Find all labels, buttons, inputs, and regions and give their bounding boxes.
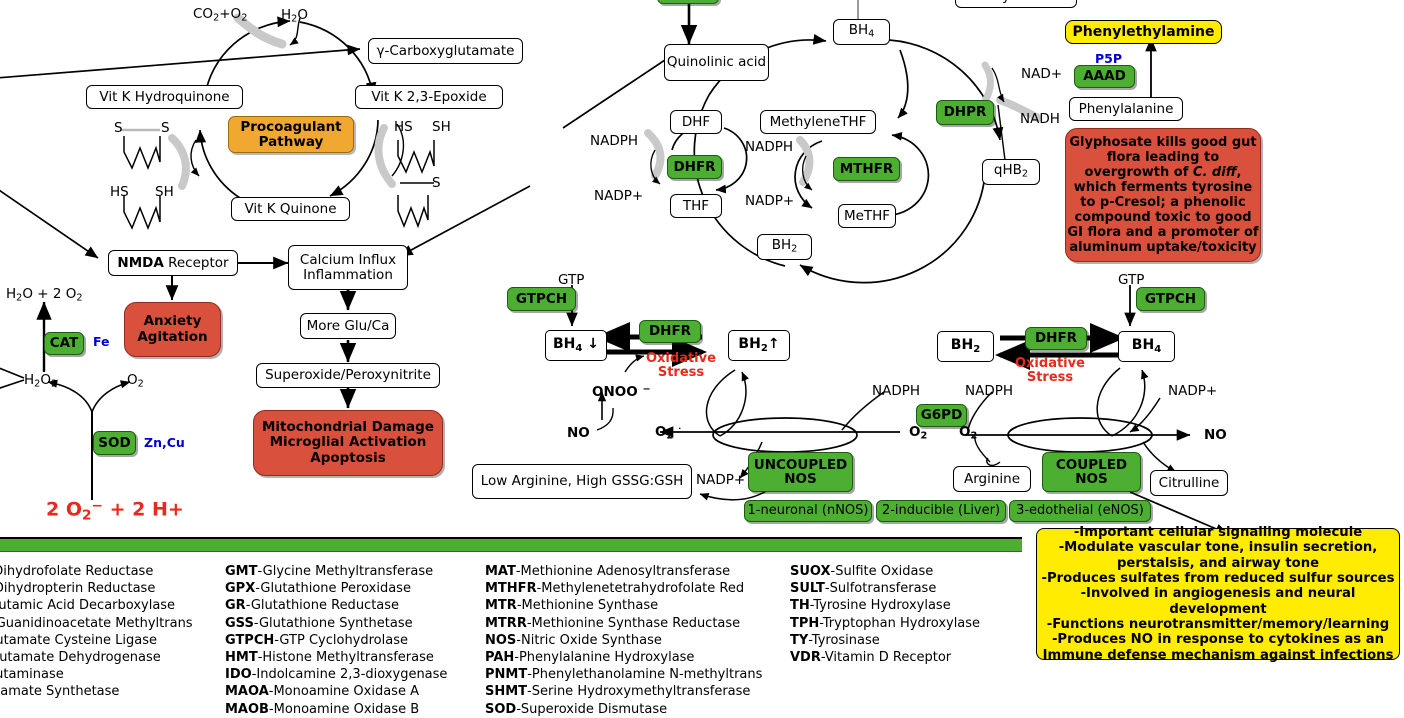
bh2-folate-node[interactable]: BH2 bbox=[757, 234, 812, 260]
nadph-coupled-label: NADPH bbox=[965, 383, 1013, 399]
quinolinic-acid-label: Quinolinic acid bbox=[667, 55, 766, 70]
qhb2-label: qHB2 bbox=[994, 163, 1028, 180]
legend-column-3: MAT-Methionine AdenosyltransferaseMTHFR-… bbox=[485, 563, 762, 718]
vitk-epoxide-node[interactable]: Vit K 2,3-Epoxide bbox=[355, 85, 503, 109]
more-glu-ca-label: More Glu/Ca bbox=[307, 319, 390, 334]
nnos-label: 1-neuronal (nNOS) bbox=[748, 504, 869, 518]
superoxide-peroxynitrite-node[interactable]: Superoxide/Peroxynitrite bbox=[256, 363, 440, 388]
bh4-uncoupled-label: BH4 ↓ bbox=[553, 337, 599, 355]
procoagulant-pathway-box[interactable]: ProcoagulantPathway bbox=[228, 116, 354, 153]
bh2-uncoupled-node[interactable]: BH2↑ bbox=[728, 330, 790, 361]
legend-entry: DHPR-Dihydropterin Reductase bbox=[0, 580, 193, 597]
more-glu-ca-node[interactable]: More Glu/Ca bbox=[300, 313, 396, 339]
vitk-hydroquinone-label: Vit K Hydroquinone bbox=[99, 90, 229, 105]
legend-entry: SULT-Sulfotransferase bbox=[790, 580, 980, 597]
aaad-label: AAAD bbox=[1083, 69, 1126, 83]
o2-label: O2 bbox=[127, 372, 144, 390]
legend-entry: TH-Tyrosine Hydroxylase bbox=[790, 597, 980, 614]
gamma-carboxyglutamate-node[interactable]: γ-Carboxyglutamate bbox=[368, 38, 523, 64]
sod-enzyme[interactable]: SOD bbox=[93, 431, 136, 455]
methylene-thf-node[interactable]: MethyleneTHF bbox=[760, 110, 876, 134]
phenylethylamine-label: Phenylethylamine bbox=[1073, 24, 1215, 40]
legend-entry: MAOB-Monoamine Oxidase B bbox=[225, 701, 447, 718]
nadp-coupled-label: NADP+ bbox=[1168, 383, 1217, 399]
gtpch-enzyme-coupled[interactable]: GTPCH bbox=[1136, 287, 1205, 311]
gtpch-label-left: GTPCH bbox=[516, 292, 567, 306]
o2-coupled-right-label: O2 bbox=[959, 424, 977, 442]
legend-entry: GDH-Glutamate Dehydrogenase bbox=[0, 649, 193, 666]
legend-entry: IDO-Indolcamine 2,3-dioxygenase bbox=[225, 666, 447, 683]
bh4-coupled-node[interactable]: BH4 bbox=[1118, 331, 1175, 362]
mthfr-enzyme[interactable]: MTHFR bbox=[833, 157, 900, 181]
no-functions-text: -Important cellular signalling molecule-… bbox=[1037, 525, 1399, 663]
dhf-node[interactable]: DHF bbox=[670, 110, 722, 134]
coupled-nos-label: COUPLEDNOS bbox=[1056, 458, 1127, 486]
bh2-coupled-node[interactable]: BH2 bbox=[937, 331, 994, 362]
nadp-mid-label: NADP+ bbox=[745, 193, 794, 209]
o2-radical-label: O2 ˙ bbox=[655, 424, 682, 442]
bh2-uncoupled-label: BH2↑ bbox=[738, 337, 779, 355]
legend-entry: HMT-Histone Methyltransferase bbox=[225, 649, 447, 666]
legend-entry: GPX-Glutathione Peroxidase bbox=[225, 580, 447, 597]
bh4-top-node[interactable]: BH4 bbox=[833, 19, 890, 45]
gtpch-label-right: GTPCH bbox=[1145, 292, 1196, 306]
h2o2-label: H2O2 bbox=[24, 372, 57, 390]
nadh-label: NADH bbox=[1020, 111, 1060, 127]
calcium-influx-label: Calcium InfluxInflammation bbox=[300, 253, 396, 282]
vitk-hydroquinone-node[interactable]: Vit K Hydroquinone bbox=[86, 85, 243, 109]
mitochondrial-damage-label: Mitochondrial DamageMicroglial Activatio… bbox=[262, 420, 434, 467]
quinolinic-acid-node[interactable]: Quinolinic acid bbox=[664, 44, 769, 81]
coupled-nos-enzyme[interactable]: COUPLEDNOS bbox=[1042, 452, 1141, 492]
legend-entry: GSS-Glutathione Synthetase bbox=[225, 615, 447, 632]
legend-column-1: DHFR-Dihydrofolate ReductaseDHPR-Dihydro… bbox=[0, 563, 193, 701]
oxidative-stress-coupled-label: OxidativeStress bbox=[1015, 357, 1085, 384]
vitk-epoxide-label: Vit K 2,3-Epoxide bbox=[371, 90, 486, 105]
dhfr-enzyme-uncoupled[interactable]: DHFR bbox=[639, 320, 701, 343]
thf-label: THF bbox=[683, 199, 709, 214]
dhpr-label: DHPR bbox=[944, 105, 987, 119]
gtpch-enzyme-uncoupled[interactable]: GTPCH bbox=[507, 287, 576, 311]
gtp-coupled-label: GTP bbox=[1118, 272, 1144, 288]
no-functions-box[interactable]: -Important cellular signalling molecule-… bbox=[1036, 528, 1400, 660]
g6pd-label: G6PD bbox=[921, 408, 963, 422]
anxiety-agitation-box[interactable]: AnxietyAgitation bbox=[124, 302, 221, 357]
legend-entry: MTR-Methionine Synthase bbox=[485, 597, 762, 614]
h2o-label: H2O bbox=[281, 7, 308, 25]
nad-plus-label: NAD+ bbox=[1021, 66, 1062, 82]
legend-entry: GS-Glutamate Synthetase bbox=[0, 683, 193, 700]
legend-entry: MTRR-Methionine Synthase Reductase bbox=[485, 615, 762, 632]
legend-entry: TPH-Tryptophan Hydroxylase bbox=[790, 615, 980, 632]
dhf-label: DHF bbox=[682, 115, 710, 130]
nos-isoform-enos[interactable]: 3-edothelial (eNOS) bbox=[1009, 500, 1151, 522]
h2o-2o2-label: H2O + 2 O2 bbox=[6, 286, 83, 304]
nos-isoform-nnos[interactable]: 1-neuronal (nNOS) bbox=[744, 500, 872, 522]
bh2-folate-label: BH2 bbox=[772, 238, 798, 255]
o2-coupled-left-label: O2 bbox=[909, 424, 927, 442]
legend-entry: GAD-Glutamic Acid Decarboxylase bbox=[0, 597, 193, 614]
aaad-enzyme[interactable]: AAAD bbox=[1074, 65, 1135, 88]
legend-entry: GAMT-Guanidinoacetate Methyltrans bbox=[0, 615, 193, 632]
uncoupled-nos-label: UNCOUPLEDNOS bbox=[754, 458, 848, 486]
legend-entry: SOD-Superoxide Dismutase bbox=[485, 701, 762, 718]
legend-entry: MTHFR-Methylenetetrahydrofolate Red bbox=[485, 580, 762, 597]
thiol-hs-left: HS bbox=[110, 184, 129, 200]
arginine-node[interactable]: Arginine bbox=[953, 466, 1031, 492]
vitk-quinone-label: Vit K Quinone bbox=[244, 202, 336, 217]
nadph-mid-label: NADPH bbox=[745, 139, 793, 155]
nmda-receptor-label: NMDA Receptor bbox=[117, 256, 228, 271]
bh4-coupled-label: BH4 bbox=[1132, 338, 1161, 356]
legend-entry: TY-Tyrosinase bbox=[790, 632, 980, 649]
thiol-s-right: S bbox=[432, 175, 441, 191]
nadph-left-label: NADPH bbox=[590, 133, 638, 149]
enos-label: 3-edothelial (eNOS) bbox=[1016, 504, 1144, 518]
nadp-left-label: NADP+ bbox=[594, 188, 643, 204]
bh4-top-label: BH4 bbox=[849, 23, 875, 40]
bh2-coupled-label: BH2 bbox=[951, 338, 980, 356]
legend-entry: SUOX-Sulfite Oxidase bbox=[790, 563, 980, 580]
glyphosate-warning-box[interactable]: Glyphosate kills good gutflora leading t… bbox=[1065, 128, 1261, 262]
mthfr-label: MTHFR bbox=[840, 162, 894, 176]
legend-entry: GTPCH-GTP Cyclohydrolase bbox=[225, 632, 447, 649]
thiol-sh-right: SH bbox=[432, 119, 451, 135]
calcium-influx-node[interactable]: Calcium InfluxInflammation bbox=[288, 245, 408, 290]
oxidative-stress-uncoupled-label: OxidativeStress bbox=[646, 352, 716, 379]
legend-entry: MAOA-Monoamine Oxidase A bbox=[225, 683, 447, 700]
uncoupled-nos-enzyme[interactable]: UNCOUPLEDNOS bbox=[748, 452, 853, 492]
legend-entry: GLS-Glutaminase bbox=[0, 666, 193, 683]
low-arginine-node[interactable]: Low Arginine, High GSSG:GSH bbox=[472, 464, 692, 499]
gtp-uncoupled-label: GTP bbox=[558, 272, 584, 288]
phenylethylamine-box[interactable]: Phenylethylamine bbox=[1065, 20, 1222, 44]
dhfr-label-uncoupled: DHFR bbox=[649, 324, 691, 338]
qhb2-node[interactable]: qHB2 bbox=[982, 159, 1040, 185]
co2-o2-label: CO2+O2 bbox=[193, 6, 247, 24]
gamma-carboxyglutamate-label: γ-Carboxyglutamate bbox=[377, 44, 515, 59]
legend-entry: NOS-Nitric Oxide Synthase bbox=[485, 632, 762, 649]
thf-node[interactable]: THF bbox=[670, 194, 722, 218]
onoo-label: ONOO − bbox=[592, 384, 651, 400]
phenylalanine-label: Phenylalanine bbox=[1079, 102, 1174, 117]
section-divider-bar bbox=[0, 537, 1022, 552]
nos-isoform-inos[interactable]: 2-inducible (Liver) bbox=[876, 500, 1006, 522]
cat-cofactor-fe: Fe bbox=[93, 334, 110, 349]
legend-entry: PAH-Phenylalanine Hydroxylase bbox=[485, 649, 762, 666]
legend-entry: GMT-Glycine Methyltransferase bbox=[225, 563, 447, 580]
thiol-s-left-1: S bbox=[114, 120, 123, 136]
legend-entry: DHFR-Dihydrofolate Reductase bbox=[0, 563, 193, 580]
dhfr-label: DHFR bbox=[673, 160, 715, 174]
legend-entry: PNMT-Phenylethanolamine N-methyltrans bbox=[485, 666, 762, 683]
dhfr-enzyme-folate[interactable]: DHFR bbox=[667, 155, 722, 179]
clipped-top-enzyme[interactable] bbox=[657, 0, 719, 4]
legend-column-2: GMT-Glycine MethyltransferaseGPX-Glutath… bbox=[225, 563, 447, 718]
nadph-uncoupled-label: NADPH bbox=[872, 383, 920, 399]
methf-node[interactable]: MeTHF bbox=[838, 204, 896, 228]
legend-entry: VDR-Vitamin D Receptor bbox=[790, 649, 980, 666]
superoxide-proton-label: 2 O2− + 2 H+ bbox=[46, 498, 184, 524]
legend-entry: GR-Glutathione Reductase bbox=[225, 597, 447, 614]
inos-label: 2-inducible (Liver) bbox=[882, 504, 1000, 518]
cat-enzyme[interactable]: CAT bbox=[44, 332, 84, 355]
cat-label: CAT bbox=[50, 336, 79, 350]
citrulline-node[interactable]: Citrulline bbox=[1150, 470, 1228, 496]
procoagulant-pathway-label: ProcoagulantPathway bbox=[240, 120, 341, 150]
superoxide-peroxynitrite-label: Superoxide/Peroxynitrite bbox=[265, 368, 431, 383]
anxiety-agitation-label: AnxietyAgitation bbox=[137, 314, 207, 345]
legend-entry: SHMT-Serine Hydroxymethyltransferase bbox=[485, 683, 762, 700]
bh4-uncoupled-node[interactable]: BH4 ↓ bbox=[545, 330, 607, 361]
phenylalanine-top-label: Phenylalanine bbox=[969, 0, 1064, 3]
arginine-label: Arginine bbox=[964, 472, 1020, 487]
legend-column-4: SUOX-Sulfite OxidaseSULT-Sulfotransferas… bbox=[790, 563, 980, 666]
phenylalanine-node[interactable]: Phenylalanine bbox=[1069, 97, 1183, 121]
citrulline-label: Citrulline bbox=[1159, 476, 1220, 491]
p5p-cofactor-label: P5P bbox=[1095, 51, 1122, 66]
dhfr-label-coupled: DHFR bbox=[1035, 331, 1077, 345]
sod-label: SOD bbox=[98, 436, 130, 450]
low-arginine-label: Low Arginine, High GSSG:GSH bbox=[481, 474, 684, 489]
nmda-receptor-node[interactable]: NMDA Receptor bbox=[108, 250, 238, 276]
dhfr-enzyme-coupled[interactable]: DHFR bbox=[1025, 327, 1087, 350]
phenylalanine-top-node[interactable]: Phenylalanine bbox=[955, 0, 1077, 8]
methylene-thf-label: MethyleneTHF bbox=[770, 115, 867, 130]
thiol-sh-left: SH bbox=[155, 184, 174, 200]
legend-entry: MAT-Methionine Adenosyltransferase bbox=[485, 563, 762, 580]
no-uncoupled-label: NO bbox=[567, 425, 590, 441]
glyphosate-warning-text: Glyphosate kills good gutflora leading t… bbox=[1067, 135, 1258, 256]
no-coupled-label: NO bbox=[1204, 427, 1227, 443]
methf-label: MeTHF bbox=[844, 209, 890, 224]
thiol-s-left-2: S bbox=[161, 120, 170, 136]
thiol-hs-right: HS bbox=[394, 119, 413, 135]
sod-cofactor-zncu: Zn,Cu bbox=[144, 435, 185, 450]
dhpr-enzyme[interactable]: DHPR bbox=[936, 100, 994, 125]
nadp-uncoupled-label: NADP+ bbox=[696, 472, 745, 488]
vitk-quinone-node[interactable]: Vit K Quinone bbox=[231, 197, 350, 221]
mitochondrial-damage-box[interactable]: Mitochondrial DamageMicroglial Activatio… bbox=[253, 410, 443, 476]
legend-entry: GCL-Glutamate Cysteine Ligase bbox=[0, 632, 193, 649]
pathway-diagram-canvas: CO2+O2 H2O γ-Carboxyglutamate Vit K Hydr… bbox=[0, 0, 1404, 716]
